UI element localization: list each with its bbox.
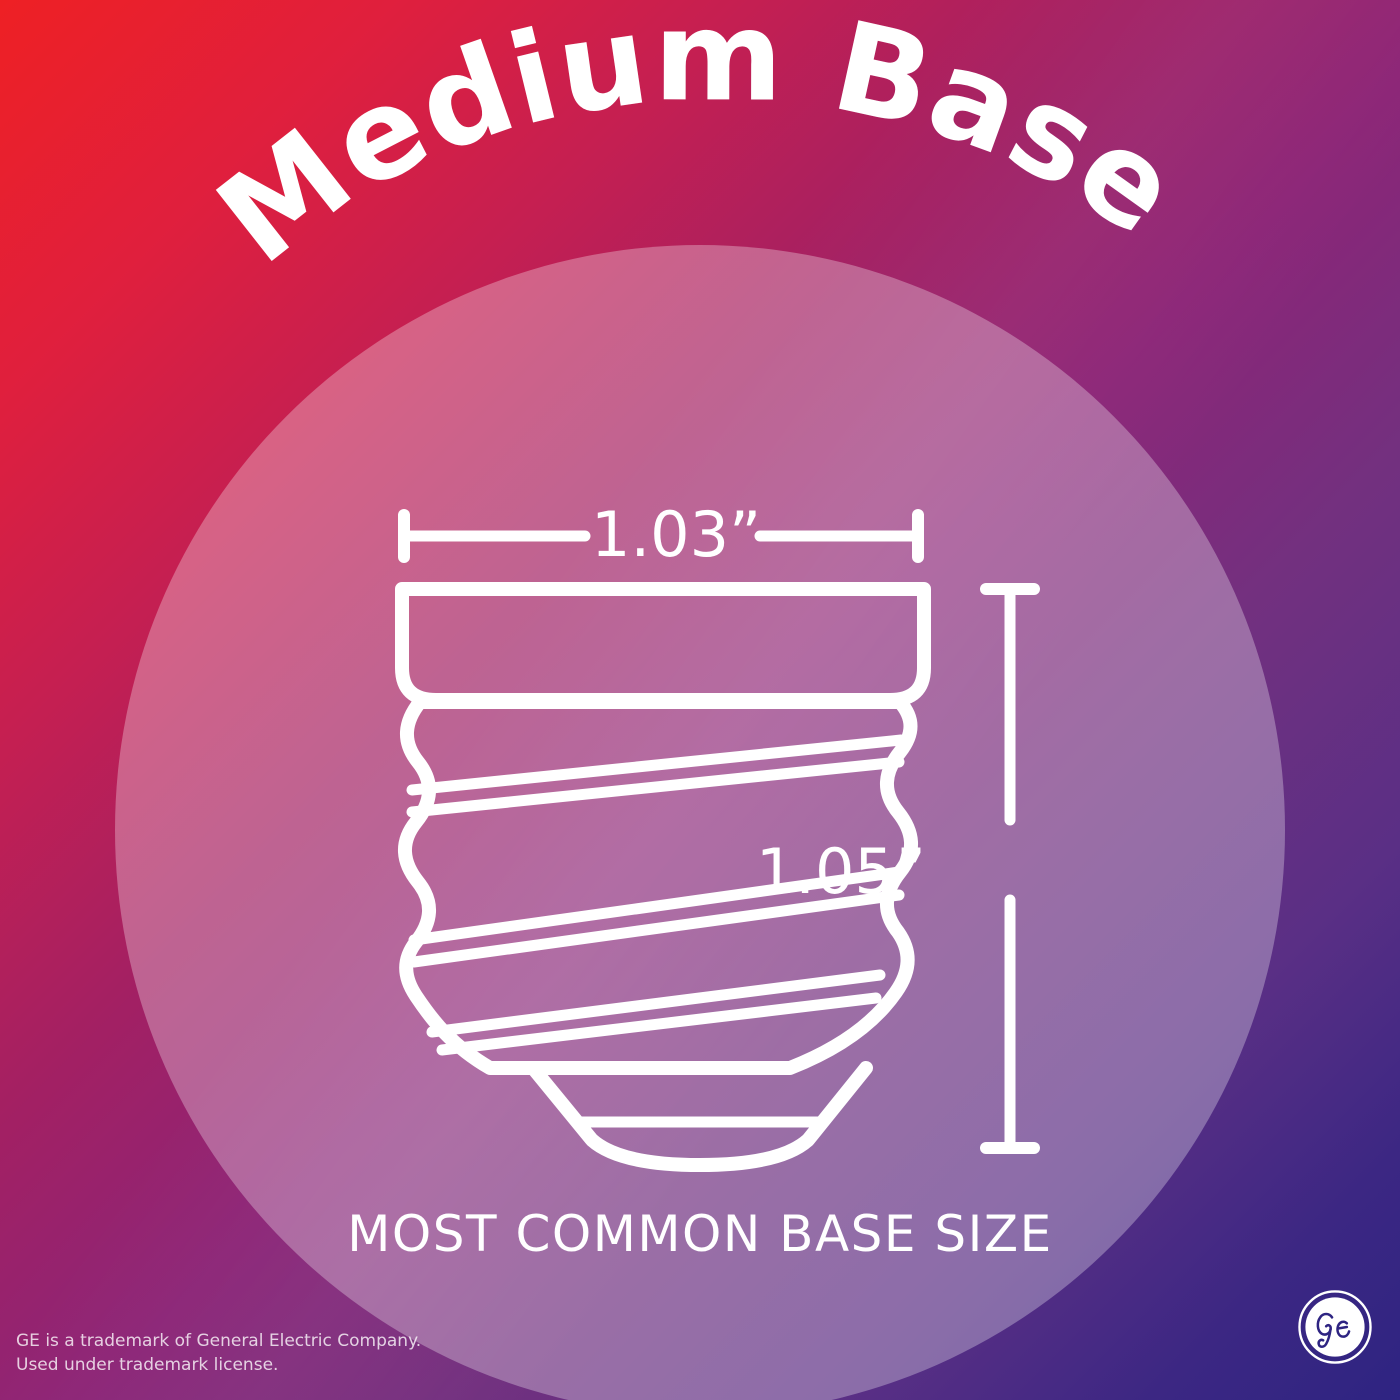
legal-line-2: Used under trademark license.: [16, 1353, 421, 1378]
infographic-canvas: Medium Base: [0, 0, 1400, 1400]
bulb-base-diagram: [0, 0, 1400, 1400]
height-dimension-label: 1.05”: [756, 835, 940, 908]
ge-logo-icon: [1298, 1290, 1372, 1364]
caption-text: MOST COMMON BASE SIZE: [0, 1205, 1400, 1263]
width-dimension-label: 1.03”: [575, 498, 777, 571]
legal-line-1: GE is a trademark of General Electric Co…: [16, 1329, 421, 1354]
legal-disclaimer: GE is a trademark of General Electric Co…: [16, 1329, 421, 1378]
base-collar: [402, 589, 924, 700]
vertical-dimension-icon: [986, 589, 1034, 1148]
